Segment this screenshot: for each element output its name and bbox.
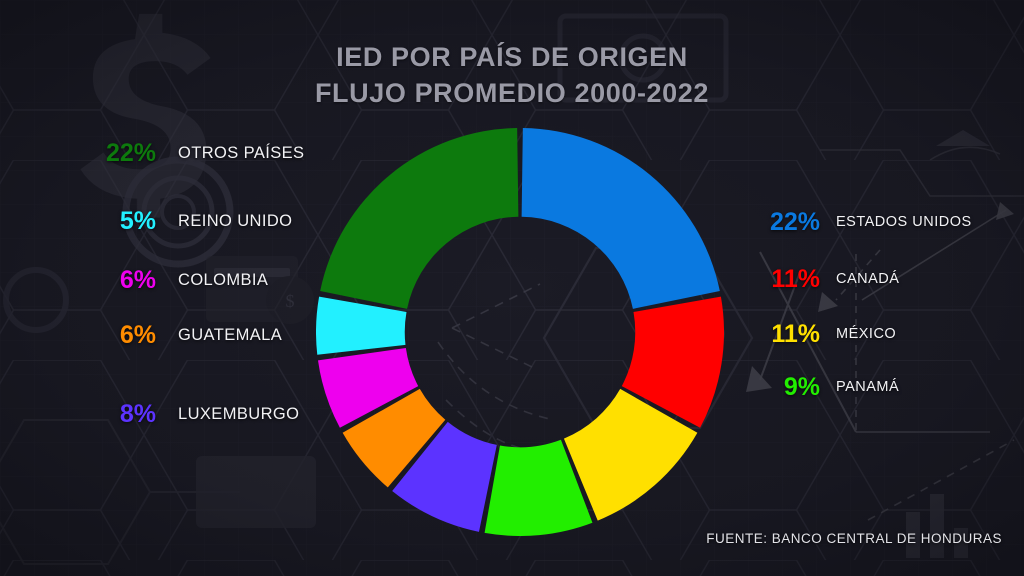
legend-label: CANADÁ [820,271,899,287]
legend-item-luxemburgo[interactable]: 8% LUXEMBURGO [78,391,318,438]
legend-label: ESTADOS UNIDOS [820,214,972,230]
legend-label: OTROS PAÍSES [156,144,304,163]
chart-title: IED POR PAÍS DE ORIGEN FLUJO PROMEDIO 20… [0,40,1024,111]
legend-label: PANAMÁ [820,379,899,395]
legend-percent: 11% [748,320,820,349]
donut-slice-group [316,128,724,536]
source-note: FUENTE: BANCO CENTRAL DE HONDURAS [706,531,1002,546]
donut-slice[interactable] [320,128,518,309]
legend-item-otros-paises[interactable]: 22% OTROS PAÍSES [78,130,318,177]
donut-slice[interactable] [522,128,720,309]
legend-item-guatemala[interactable]: 6% GUATEMALA [78,312,318,359]
legend-label: REINO UNIDO [156,212,292,231]
legend-label: COLOMBIA [156,271,268,290]
legend-percent: 6% [78,321,156,350]
legend-label: MÉXICO [820,326,896,342]
legend-percent: 5% [78,207,156,236]
legend-percent: 11% [748,265,820,294]
legend-item-mexico[interactable]: 11% MÉXICO [748,308,998,360]
legend-item-reino-unido[interactable]: 5% REINO UNIDO [78,198,318,245]
legend-left: 22% OTROS PAÍSES 5% REINO UNIDO 6% COLOM… [78,130,318,438]
legend-item-colombia[interactable]: 6% COLOMBIA [78,257,318,304]
legend-item-estados-unidos[interactable]: 22% ESTADOS UNIDOS [748,196,998,248]
legend-label: LUXEMBURGO [156,405,299,424]
legend-percent: 8% [78,400,156,429]
donut-chart [316,128,724,536]
chart-title-line-2: FLUJO PROMEDIO 2000-2022 [0,76,1024,112]
legend-percent: 6% [78,266,156,295]
chart-title-line-1: IED POR PAÍS DE ORIGEN [0,40,1024,76]
legend-label: GUATEMALA [156,326,282,345]
legend-item-panama[interactable]: 9% PANAMÁ [748,361,998,413]
legend-percent: 22% [748,208,820,237]
donut-chart-svg [316,128,724,536]
legend-right: 22% ESTADOS UNIDOS 11% CANADÁ 11% MÉXICO… [748,196,998,413]
legend-percent: 9% [748,373,820,402]
legend-percent: 22% [78,139,156,168]
legend-item-canada[interactable]: 11% CANADÁ [748,253,998,305]
